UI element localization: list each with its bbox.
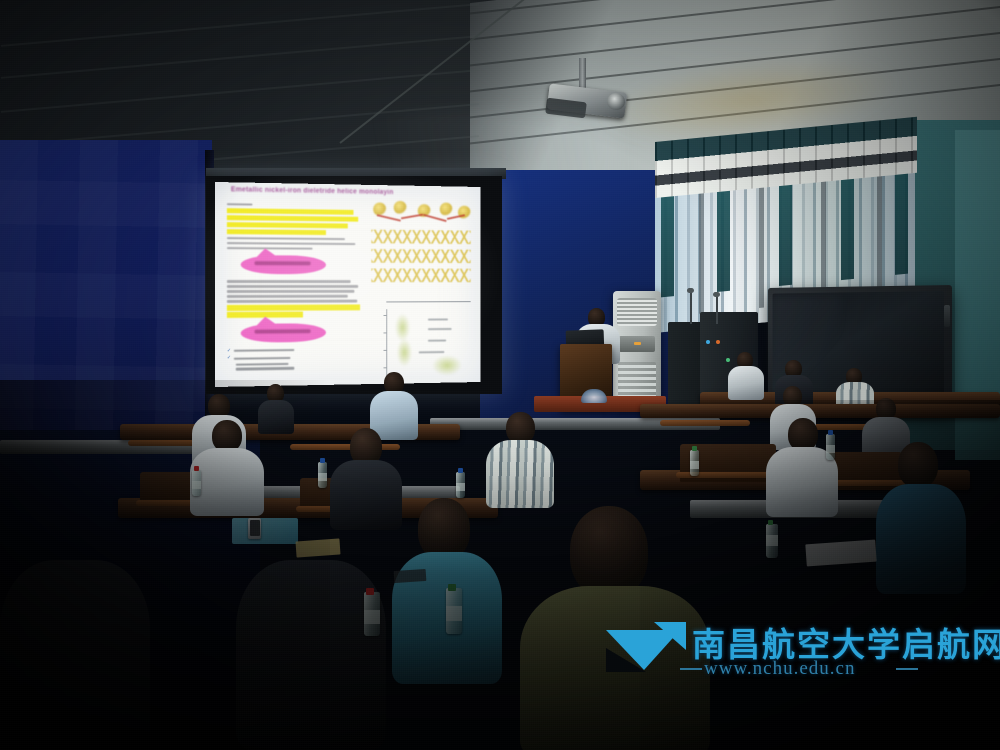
presentation-slide: Emetallic nickel-iron dieletride helice … xyxy=(215,182,481,387)
slide-bullet: ✓ xyxy=(227,354,364,361)
slide-callout-lower xyxy=(241,323,326,343)
slide-callout-upper xyxy=(241,255,326,274)
ac-grille xyxy=(617,298,657,326)
slide-bullet xyxy=(227,366,364,370)
audience-member xyxy=(486,412,554,504)
remote-control[interactable] xyxy=(394,569,427,583)
microphone-head-icon xyxy=(713,292,720,297)
smartphone-on-desk[interactable] xyxy=(248,518,261,539)
slide-text-column: ✓ ✓ xyxy=(227,200,364,370)
lecture-hall-photo: Emetallic nickel-iron dieletride helice … xyxy=(0,0,1000,750)
water-bottle[interactable] xyxy=(766,524,778,558)
microphone-head-icon xyxy=(687,288,694,293)
audience-member xyxy=(190,420,264,512)
audience-member-silhouette xyxy=(236,560,386,750)
paper-sheet[interactable] xyxy=(805,540,876,567)
slide-bullet xyxy=(227,361,364,365)
audience-member xyxy=(728,352,764,398)
water-bottle[interactable] xyxy=(690,450,699,476)
panel-side-button[interactable] xyxy=(944,305,950,327)
check-icon: ✓ xyxy=(227,356,231,361)
water-bottle[interactable] xyxy=(446,588,462,634)
audience-member xyxy=(876,442,966,592)
water-bottle[interactable] xyxy=(364,592,380,636)
water-bottle[interactable] xyxy=(826,434,835,460)
watermark-organization: 南昌航空大学启航网 xyxy=(692,618,1000,666)
paper-sheet[interactable] xyxy=(295,538,340,557)
slide-title: Emetallic nickel-iron dieletride helice … xyxy=(231,186,468,200)
watermark-url: www.nchu.edu.cn xyxy=(704,658,855,680)
water-bottle[interactable] xyxy=(456,472,465,498)
blue-cloth-bag[interactable] xyxy=(232,518,298,544)
check-icon: ✓ xyxy=(227,349,231,354)
molecular-structure-diagram xyxy=(369,200,472,226)
seat-row-a xyxy=(640,404,1000,418)
gooseneck-microphone xyxy=(716,296,718,324)
ac-status-led-icon xyxy=(634,342,641,345)
water-bottle[interactable] xyxy=(192,470,201,496)
water-bottle[interactable] xyxy=(318,462,327,488)
gooseneck-microphone xyxy=(690,292,692,324)
slide-figure-column xyxy=(369,200,472,228)
audience-member-foreground-olive xyxy=(520,506,710,750)
podium-emblem xyxy=(581,389,607,403)
audience-member-silhouette xyxy=(0,560,150,750)
slide-bullet: ✓ xyxy=(227,347,364,354)
